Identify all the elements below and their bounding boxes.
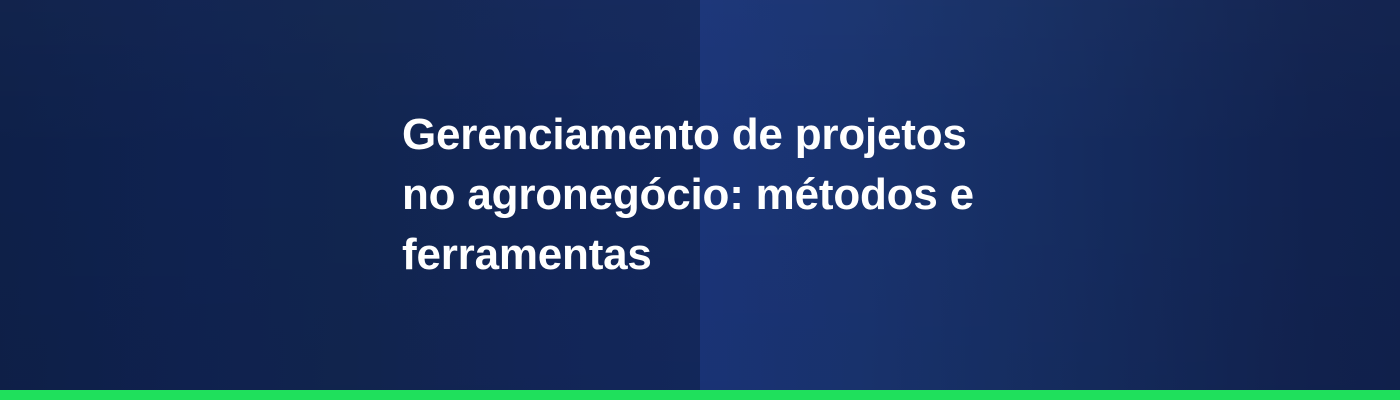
bottom-accent-bar <box>0 390 1400 400</box>
hero-banner: Gerenciamento de projetos no agronegócio… <box>0 0 1400 400</box>
hero-content: Gerenciamento de projetos no agronegócio… <box>402 0 1002 390</box>
page-title: Gerenciamento de projetos no agronegócio… <box>402 105 982 285</box>
